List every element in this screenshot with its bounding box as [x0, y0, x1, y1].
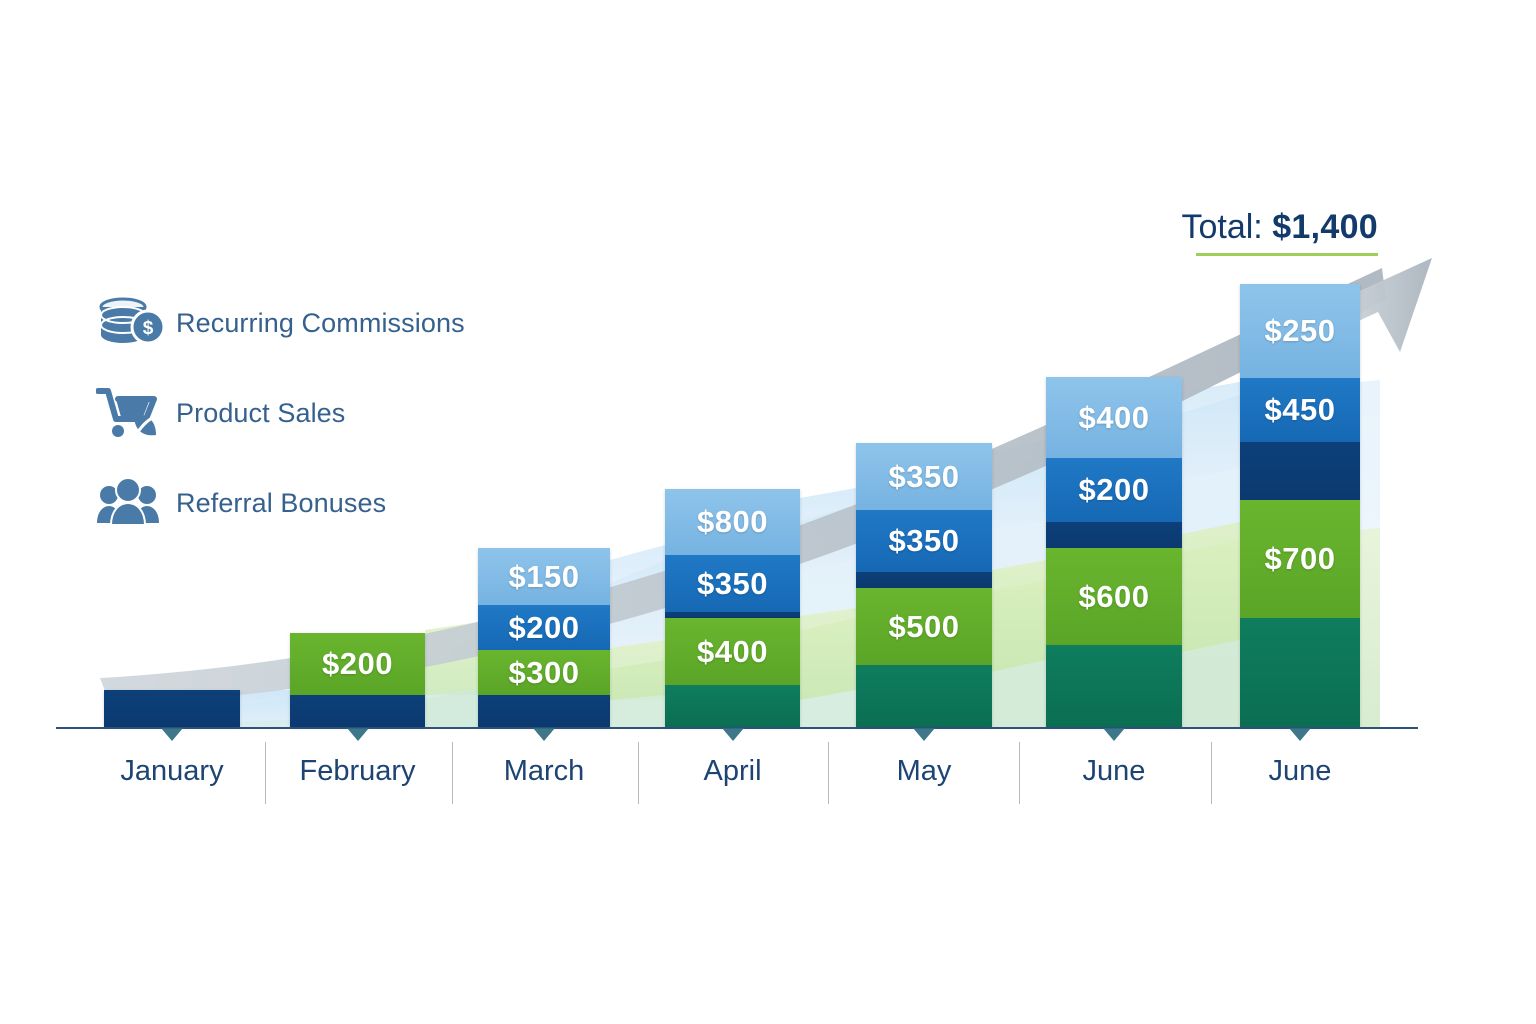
- axis-area: JanuaryFebruaryMarchAprilMayJuneJune: [0, 0, 1536, 1024]
- axis-month-label: March: [504, 755, 585, 788]
- axis-divider: [1211, 742, 1212, 804]
- axis-tick-marker: [161, 728, 183, 741]
- axis-month-label: January: [120, 755, 223, 788]
- axis-divider: [638, 742, 639, 804]
- axis-tick-marker: [1103, 728, 1125, 741]
- axis-tick-marker: [1289, 728, 1311, 741]
- axis-divider: [1019, 742, 1020, 804]
- axis-month-label: June: [1083, 755, 1146, 788]
- axis-month-label: February: [299, 755, 415, 788]
- axis-month-label: April: [703, 755, 761, 788]
- axis-divider: [828, 742, 829, 804]
- axis-month-label: May: [897, 755, 952, 788]
- axis-divider: [265, 742, 266, 804]
- axis-tick-marker: [722, 728, 744, 741]
- commission-growth-chart: $ Recurring Commissions Product Sales: [0, 0, 1536, 1024]
- axis-month-label: June: [1269, 755, 1332, 788]
- axis-tick-marker: [347, 728, 369, 741]
- axis-tick-marker: [913, 728, 935, 741]
- axis-tick-marker: [533, 728, 555, 741]
- axis-divider: [452, 742, 453, 804]
